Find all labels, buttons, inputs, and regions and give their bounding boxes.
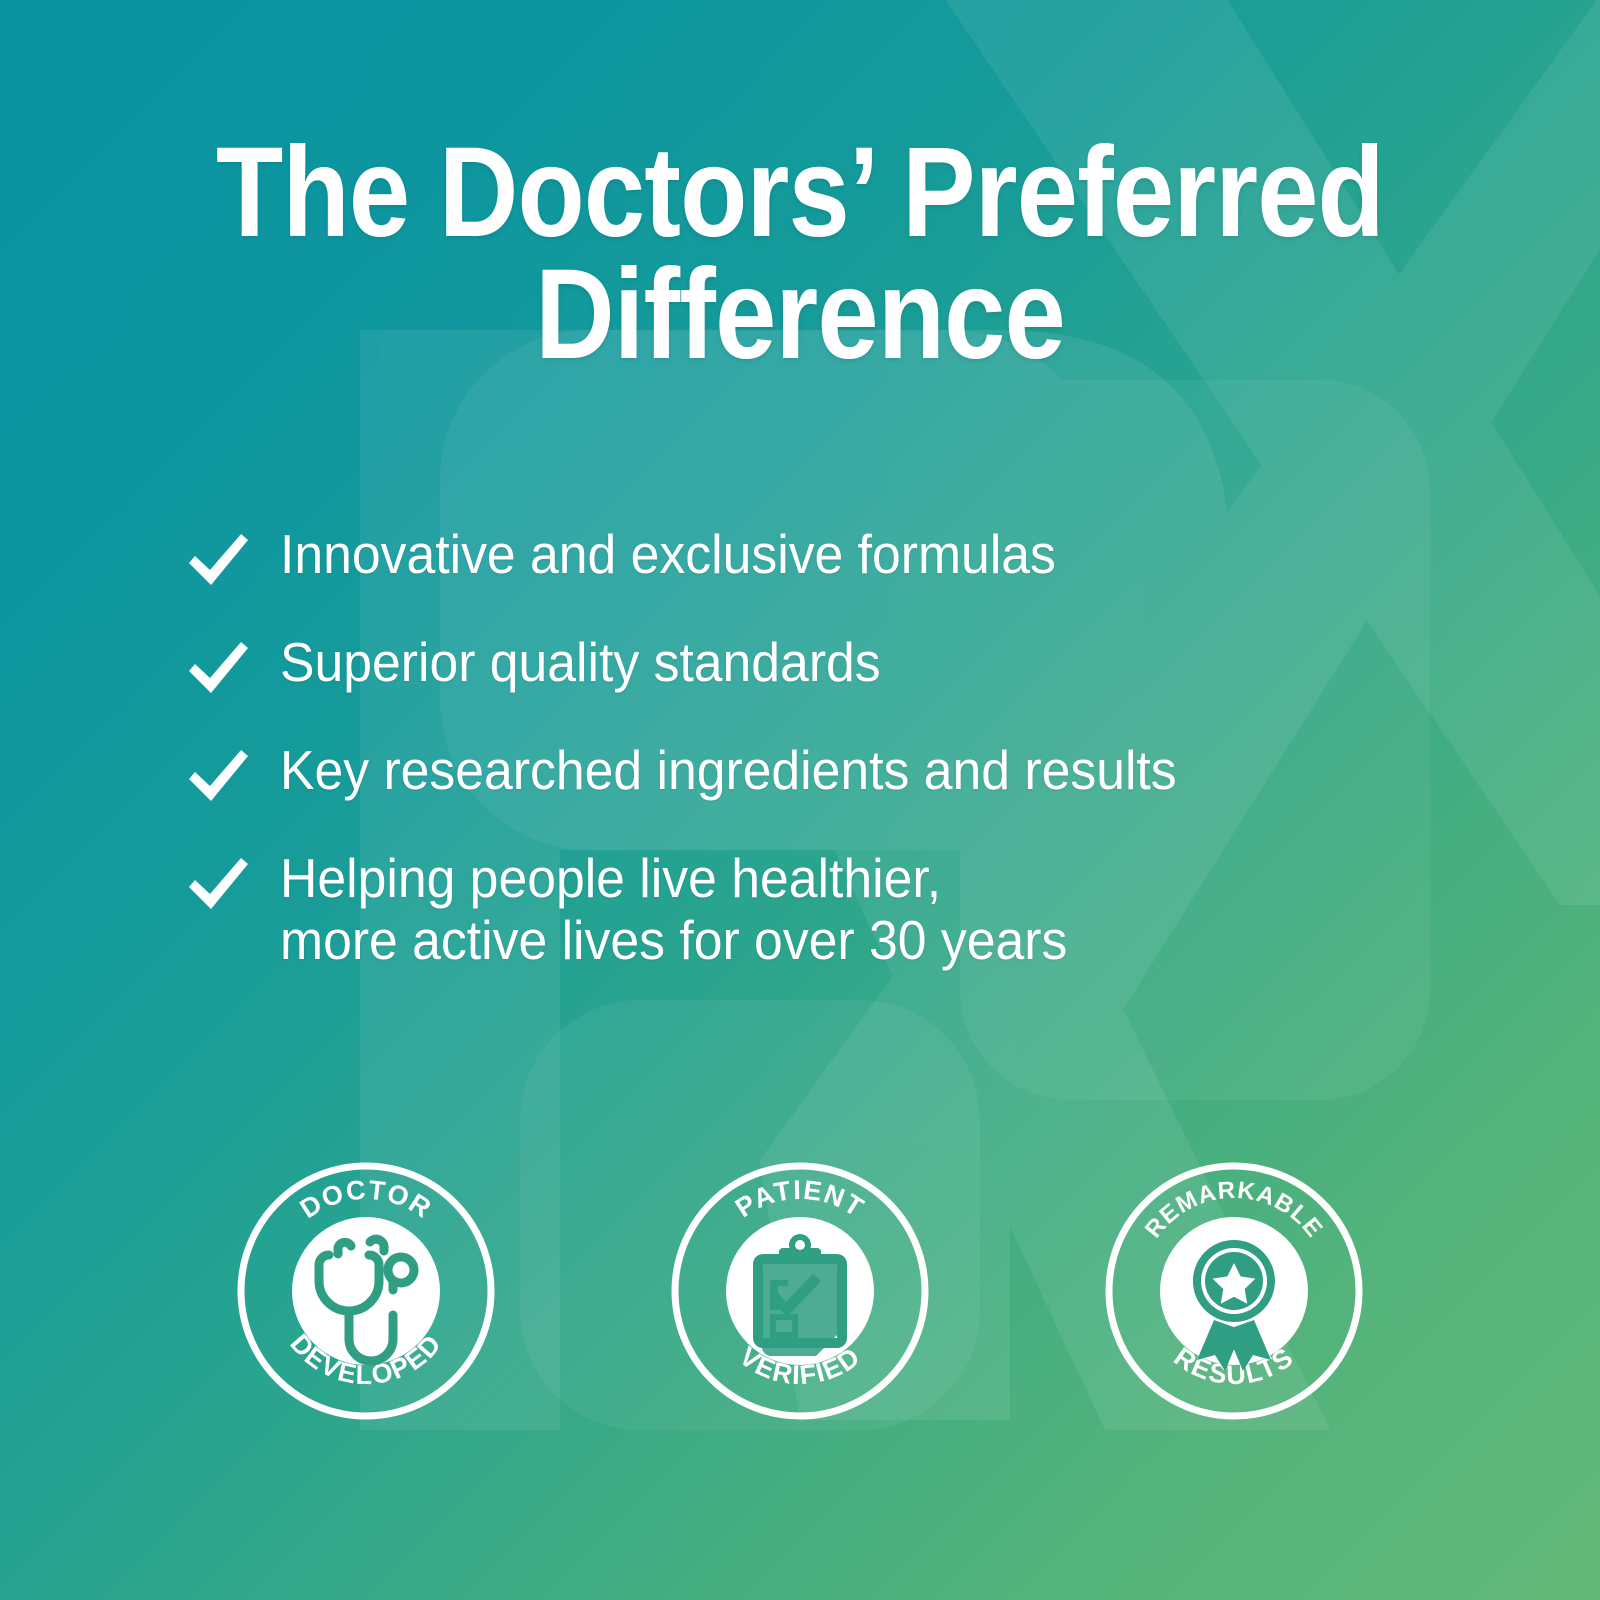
list-item: Key researched ingredients and results	[186, 740, 1446, 808]
badge-top-label: DOCTOR	[295, 1175, 438, 1225]
list-item: Helping people live healthier, more acti…	[186, 848, 1446, 971]
badge-doctor-developed: DOCTOR DEVELOPED	[233, 1158, 499, 1424]
page-title: The Doctors’ Preferred Difference	[112, 132, 1488, 375]
badge-top-label: PATIENT	[730, 1175, 870, 1224]
title-line-1: The Doctors’ Preferred	[112, 132, 1488, 254]
check-icon	[186, 746, 250, 808]
list-item-label: Superior quality standards	[280, 632, 881, 694]
svg-text:PATIENT: PATIENT	[730, 1175, 870, 1224]
svg-text:DOCTOR: DOCTOR	[295, 1175, 438, 1225]
title-line-2: Difference	[112, 254, 1488, 376]
list-item: Superior quality standards	[186, 632, 1446, 700]
list-item-label: Key researched ingredients and results	[280, 740, 1177, 802]
list-item-label: Innovative and exclusive formulas	[280, 524, 1056, 586]
check-icon	[186, 638, 250, 700]
benefits-list: Innovative and exclusive formulas Superi…	[186, 524, 1446, 971]
check-icon	[186, 530, 250, 592]
promo-poster: The Doctors’ Preferred Difference Innova…	[0, 0, 1600, 1600]
badge-remarkable-results: REMARKABLE RESULTS	[1101, 1158, 1367, 1424]
list-item: Innovative and exclusive formulas	[186, 524, 1446, 592]
check-icon	[186, 854, 250, 916]
trust-badges: DOCTOR DEVELOPED	[0, 1158, 1600, 1424]
list-item-label: Helping people live healthier, more acti…	[280, 848, 1067, 971]
badge-patient-verified: PATIENT VERIFIED	[667, 1158, 933, 1424]
